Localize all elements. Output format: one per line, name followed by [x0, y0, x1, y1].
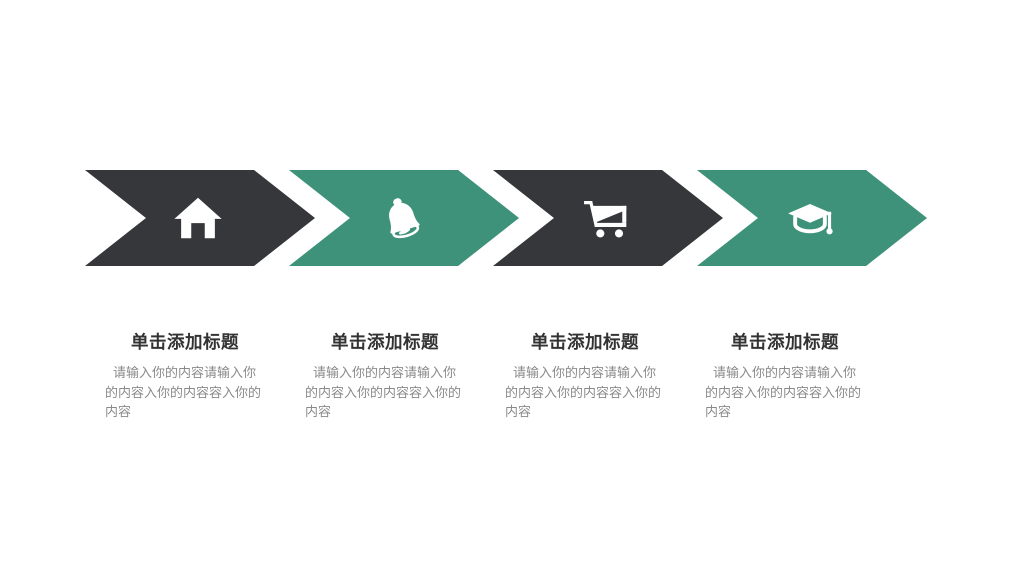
home-icon: [168, 188, 228, 248]
caption-column-2: 单击添加标题 请输入你的内容请输入你的内容入你的内容容入你的内容: [285, 330, 485, 422]
caption-body: 请输入你的内容请输入你的内容入你的内容容入你的内容: [305, 363, 465, 422]
caption-title: 单击添加标题: [685, 330, 885, 354]
chevron-step-1[interactable]: [85, 170, 315, 266]
caption-title: 单击添加标题: [485, 330, 685, 354]
caption-column-4: 单击添加标题 请输入你的内容请输入你的内容入你的内容容入你的内容: [685, 330, 885, 422]
caption-title: 单击添加标题: [85, 330, 285, 354]
chevron-step-2[interactable]: [289, 170, 519, 266]
caption-column-3: 单击添加标题 请输入你的内容请输入你的内容入你的内容容入你的内容: [485, 330, 685, 422]
chevron-process-band: [85, 170, 928, 266]
caption-row: 单击添加标题 请输入你的内容请输入你的内容入你的内容容入你的内容 单击添加标题 …: [85, 330, 928, 450]
chevron-step-4[interactable]: [697, 170, 927, 266]
caption-body: 请输入你的内容请输入你的内容入你的内容容入你的内容: [705, 363, 865, 422]
graduation-cap-icon: [780, 188, 840, 248]
caption-body: 请输入你的内容请输入你的内容入你的内容容入你的内容: [505, 363, 665, 422]
caption-body: 请输入你的内容请输入你的内容入你的内容容入你的内容: [105, 363, 265, 422]
shopping-cart-icon: [576, 188, 636, 248]
bell-icon: [372, 188, 432, 248]
chevron-step-3[interactable]: [493, 170, 723, 266]
caption-column-1: 单击添加标题 请输入你的内容请输入你的内容入你的内容容入你的内容: [85, 330, 285, 422]
caption-title: 单击添加标题: [285, 330, 485, 354]
slide-canvas: 单击添加标题 请输入你的内容请输入你的内容入你的内容容入你的内容 单击添加标题 …: [0, 0, 1024, 576]
